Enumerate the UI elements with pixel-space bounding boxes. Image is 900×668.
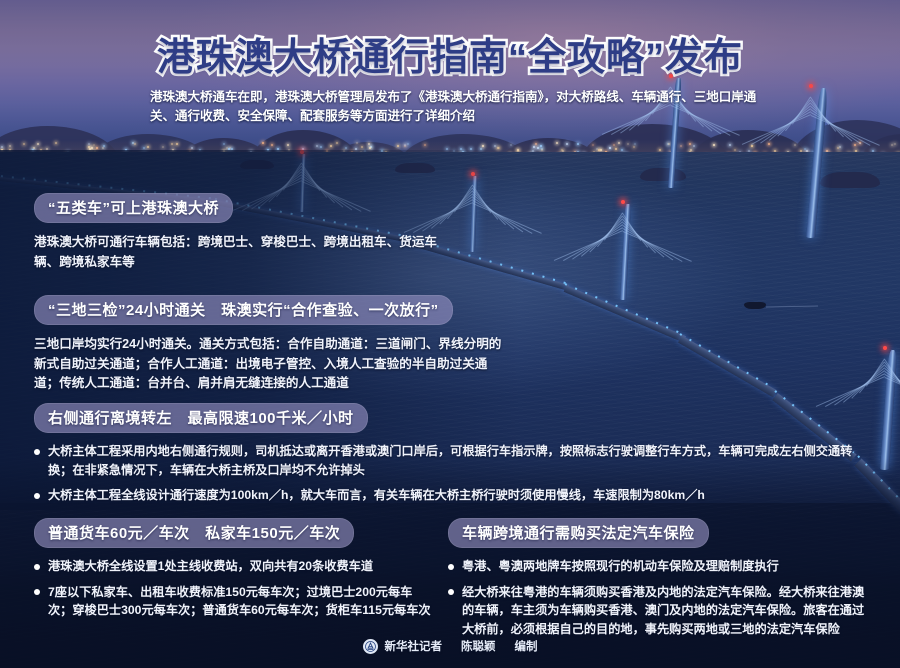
section-insurance: 车辆跨境通行需购买法定汽车保险 粤港、粤澳两地牌车按照现行的机动车保险及理赔制度… — [448, 518, 868, 645]
section-customs-text: 三地口岸均实行24小时通关。通关方式包括：合作自助通道：三道闸门、界线分明的新式… — [34, 335, 504, 394]
footer-agency: 新华社记者 — [385, 638, 443, 654]
section-insurance-heading: 车辆跨境通行需购买法定汽车保险 — [448, 518, 709, 548]
list-item: 7座以下私家车、出租车收费标准150元每车次；过境巴士200元每车次；穿梭巴士3… — [34, 583, 434, 620]
section-driving-list: 大桥主体工程采用内地右侧通行规则，司机抵达或离开香港或澳门口岸后，可根据行车指示… — [34, 442, 870, 505]
section-insurance-list: 粤港、粤澳两地牌车按照现行的机动车保险及理赔制度执行 经大桥来往粤港的车辆须购买… — [448, 557, 868, 638]
section-driving-heading: 右侧通行离境转左 最高限速100千米／小时 — [34, 403, 368, 433]
footer-role: 编制 — [515, 638, 538, 654]
section-toll-list: 港珠澳大桥全线设置1处主线收费站，双向共有20条收费车道 7座以下私家车、出租车… — [34, 557, 434, 620]
list-item: 粤港、粤澳两地牌车按照现行的机动车保险及理赔制度执行 — [448, 557, 868, 576]
page-title: 港珠澳大桥通行指南“全攻略”发布 — [0, 26, 900, 81]
footer-credit: 新华社记者 陈聪颖 编制 — [0, 638, 900, 654]
section-driving: 右侧通行离境转左 最高限速100千米／小时 大桥主体工程采用内地右侧通行规则，司… — [34, 403, 870, 512]
section-customs: “三地三检”24小时通关 珠澳实行“合作查验、一次放行” 三地口岸均实行24小时… — [34, 295, 504, 394]
page-subtitle: 港珠澳大桥通车在即，港珠澳大桥管理局发布了《港珠澳大桥通行指南》，对大桥路线、车… — [150, 88, 770, 126]
list-item: 经大桥来往粤港的车辆须购买香港及内地的法定汽车保险。经大桥来往港澳的车辆，车主须… — [448, 583, 868, 639]
list-item: 大桥主体工程采用内地右侧通行规则，司机抵达或离开香港或澳门口岸后，可根据行车指示… — [34, 442, 870, 479]
footer-author: 陈聪颖 — [461, 638, 496, 654]
list-item: 港珠澳大桥全线设置1处主线收费站，双向共有20条收费车道 — [34, 557, 434, 576]
list-item: 大桥主体工程全线设计通行速度为100km／h，就大车而言，有关车辆在大桥主桥行驶… — [34, 486, 870, 505]
section-vehicles-text: 港珠澳大桥可通行车辆包括：跨境巴士、穿梭巴士、跨境出租车、货运车辆、跨境私家车等 — [34, 233, 454, 272]
infographic-canvas: 港珠澳大桥通行指南“全攻略”发布 港珠澳大桥通车在即，港珠澳大桥管理局发布了《港… — [0, 0, 900, 668]
xinhua-logo-icon — [363, 639, 378, 654]
section-customs-heading: “三地三检”24小时通关 珠澳实行“合作查验、一次放行” — [34, 295, 453, 325]
section-toll-heading: 普通货车60元／车次 私家车150元／车次 — [34, 518, 354, 548]
section-toll: 普通货车60元／车次 私家车150元／车次 港珠澳大桥全线设置1处主线收费站，双… — [34, 518, 434, 627]
section-vehicles-heading: “五类车”可上港珠澳大桥 — [34, 193, 233, 223]
section-vehicles: “五类车”可上港珠澳大桥 港珠澳大桥可通行车辆包括：跨境巴士、穿梭巴士、跨境出租… — [34, 193, 454, 272]
